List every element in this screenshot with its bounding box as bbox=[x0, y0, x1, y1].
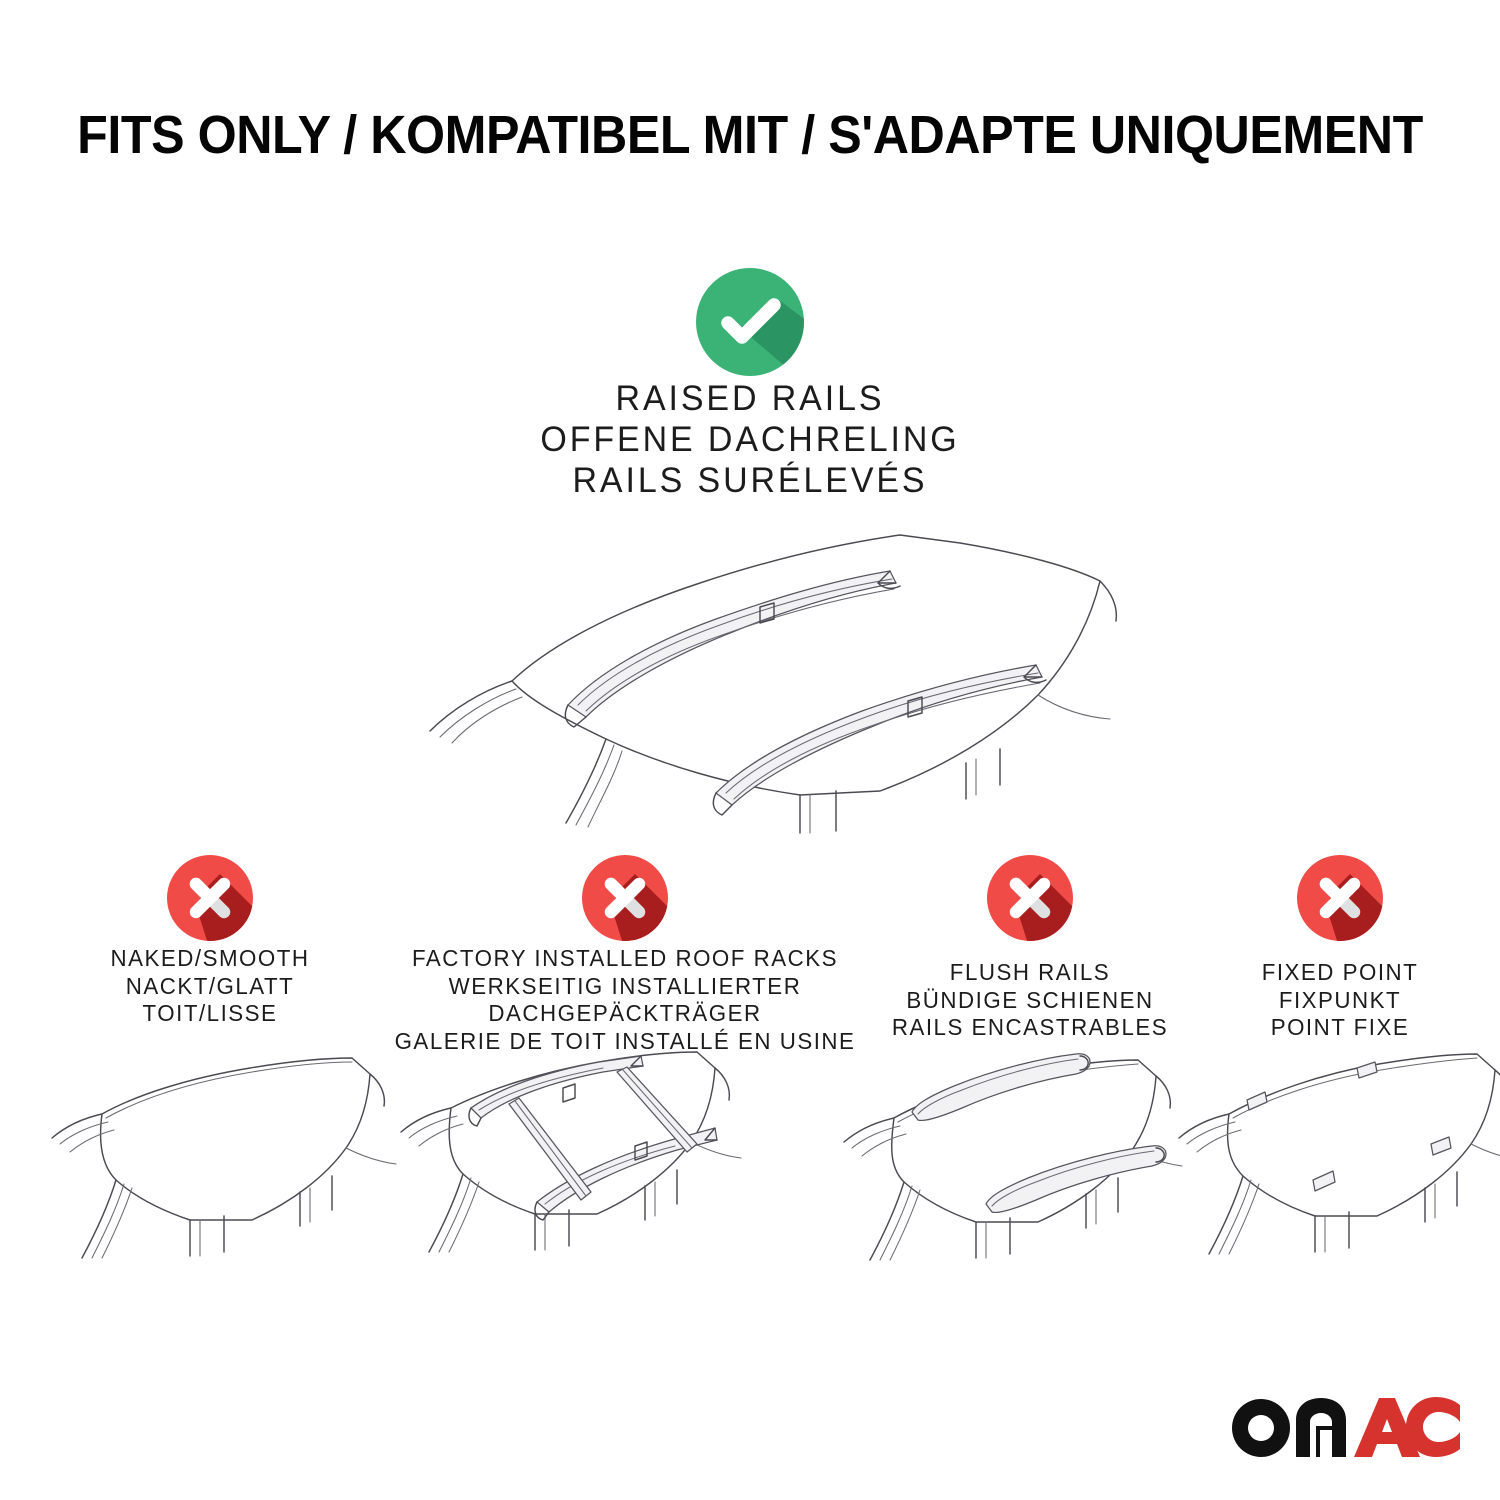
label-line-2: BÜNDIGE SCHIENEN bbox=[851, 987, 1210, 1015]
incompatible-labels: FIXED POINT FIXPUNKT POINT FIXE bbox=[1185, 959, 1495, 1042]
cross-circle-icon bbox=[1296, 854, 1384, 942]
cross-circle-icon bbox=[166, 854, 254, 942]
compatible-label-de: OFFENE DACHRELING bbox=[23, 419, 1478, 460]
car-roof-naked-smooth-illustration bbox=[30, 1052, 402, 1277]
label-line-3: POINT FIXE bbox=[1190, 1014, 1491, 1042]
car-roof-fixed-point-illustration bbox=[1135, 1052, 1500, 1280]
label-line-2: NACKT/GLATT bbox=[26, 973, 395, 1001]
label-line-2: FIXPUNKT bbox=[1190, 987, 1491, 1015]
label-line-3: RAILS ENCASTRABLES bbox=[851, 1014, 1210, 1042]
cross-circle-icon bbox=[581, 854, 669, 942]
car-roof-flush-rails-illustration bbox=[790, 1052, 1190, 1280]
cross-circle-icon bbox=[986, 854, 1074, 942]
label-line-1: FLUSH RAILS bbox=[851, 959, 1210, 987]
omac-logo bbox=[1228, 1392, 1460, 1458]
label-line-1: NAKED/SMOOTH bbox=[26, 945, 395, 973]
incompatible-labels: FLUSH RAILS BÜNDIGE SCHIENEN RAILS ENCAS… bbox=[845, 959, 1215, 1042]
page-title: FITS ONLY / KOMPATIBEL MIT / S'ADAPTE UN… bbox=[53, 104, 1448, 166]
incompatible-labels: NAKED/SMOOTH NACKT/GLATT TOIT/LISSE bbox=[20, 945, 400, 1028]
label-line-1: FACTORY INSTALLED ROOF RACKS bbox=[392, 945, 858, 973]
check-circle-icon bbox=[695, 267, 805, 377]
car-roof-raised-rails-illustration bbox=[400, 495, 1120, 835]
compatible-label-en: RAISED RAILS bbox=[23, 378, 1478, 419]
car-roof-factory-roof-racks-illustration bbox=[385, 1050, 785, 1280]
label-line-3: TOIT/LISSE bbox=[26, 1000, 395, 1028]
label-line-3: DACHGEPÄCKTRÄGER bbox=[392, 1000, 858, 1028]
compatible-labels: RAISED RAILS OFFENE DACHRELING RAILS SUR… bbox=[0, 378, 1500, 501]
incompatible-labels: FACTORY INSTALLED ROOF RACKS WERKSEITIG … bbox=[385, 945, 865, 1055]
label-line-2: WERKSEITIG INSTALLIERTER bbox=[392, 973, 858, 1001]
label-line-1: FIXED POINT bbox=[1190, 959, 1491, 987]
